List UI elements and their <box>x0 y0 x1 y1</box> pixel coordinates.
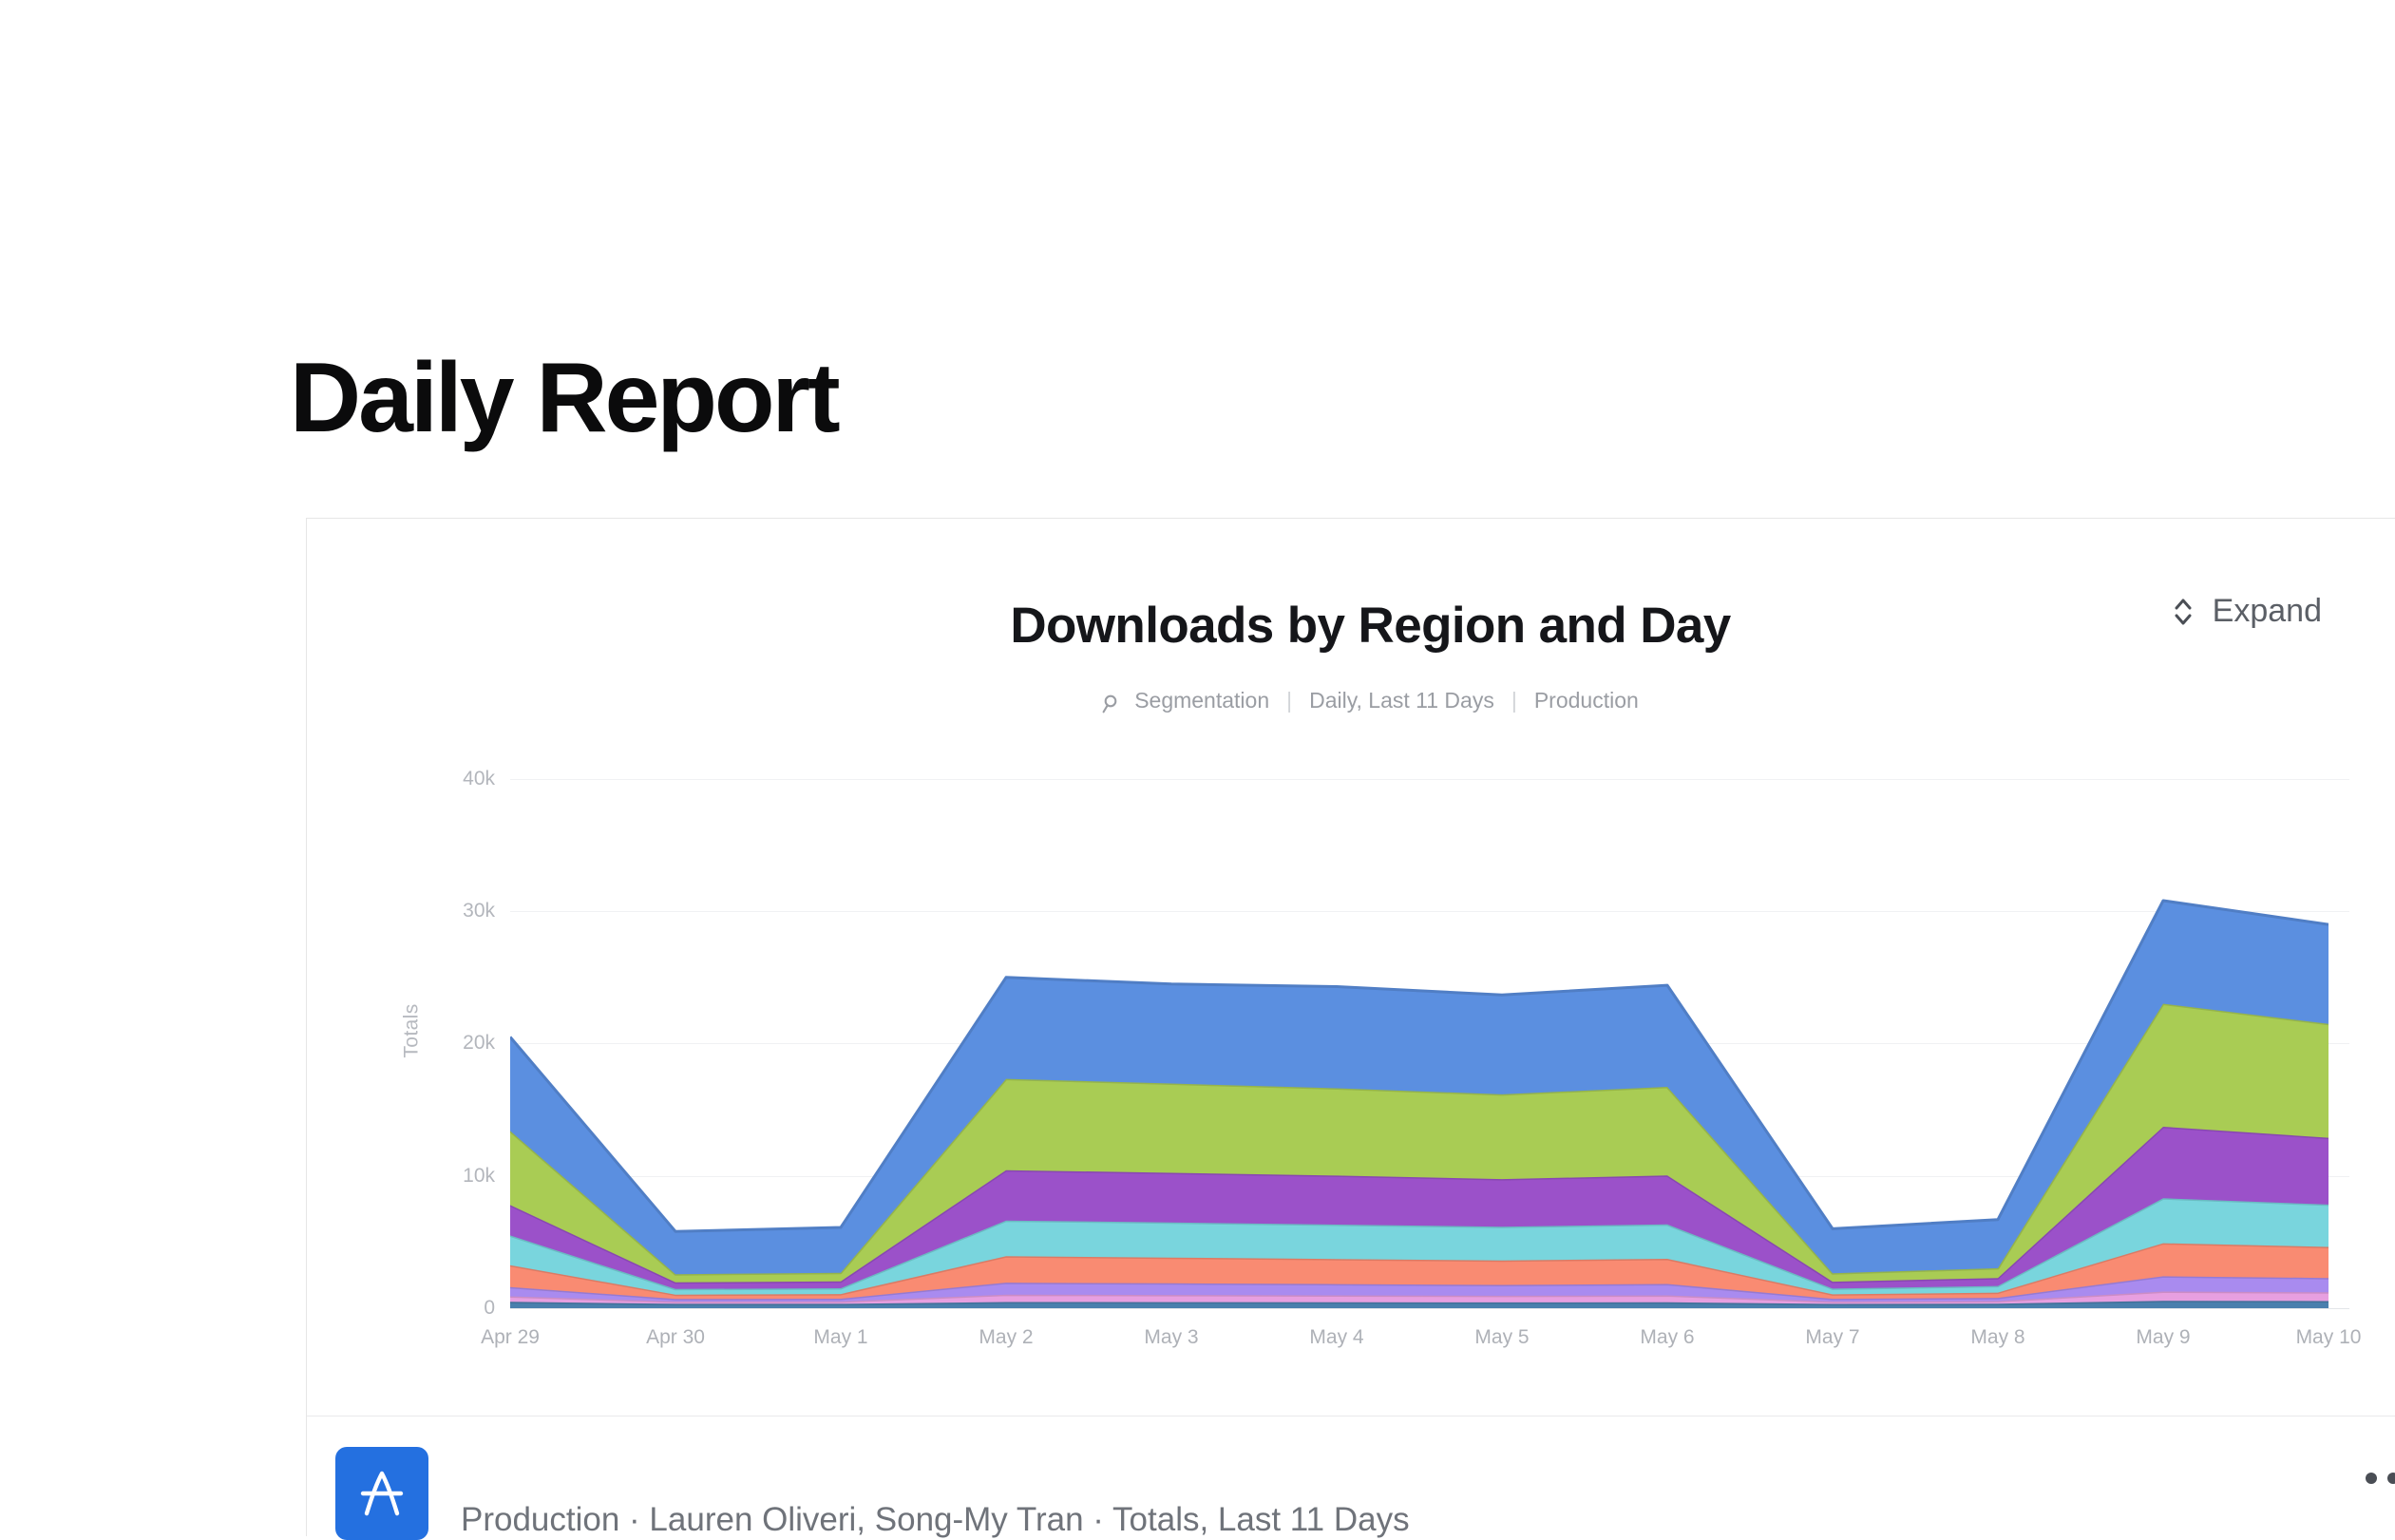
segmentation-icon <box>1102 693 1123 713</box>
expand-label: Expand <box>2213 593 2322 630</box>
chevron-up-down-icon <box>2169 595 2197 629</box>
card-divider <box>307 1416 2395 1416</box>
gridline-0 <box>510 1308 2349 1309</box>
x-tick-label: Apr 29 <box>481 1326 540 1349</box>
chart-interval-label: Daily, Last 11 Days <box>1309 688 1494 713</box>
chart-subtitle: Segmentation | Daily, Last 11 Days | Pro… <box>307 688 2395 713</box>
x-tick-label: May 1 <box>813 1326 867 1349</box>
x-tick-label: May 5 <box>1474 1326 1529 1349</box>
chart-card: Downloads by Region and Day Segmentation… <box>306 518 2395 1536</box>
y-tick-label: 10k <box>463 1165 495 1188</box>
x-tick-label: May 9 <box>2136 1326 2190 1349</box>
amplitude-logo-icon <box>335 1447 428 1540</box>
expand-button[interactable]: Expand <box>2169 593 2322 630</box>
y-tick-label: 40k <box>463 768 495 790</box>
y-tick-label: 0 <box>484 1297 495 1320</box>
kebab-dot-2 <box>2387 1473 2395 1484</box>
chart-card-footer: Production · Lauren Oliveri, Song-My Tra… <box>335 1450 2395 1537</box>
x-tick-label: May 2 <box>979 1326 1033 1349</box>
x-tick-label: May 7 <box>1805 1326 1859 1349</box>
x-tick-label: May 6 <box>1640 1326 1694 1349</box>
y-tick-label: 20k <box>463 1032 495 1055</box>
page-root: Daily Report Downloads by Region and Day… <box>0 0 2395 1536</box>
subtitle-separator-2: | <box>1506 688 1523 713</box>
x-tick-label: May 3 <box>1144 1326 1198 1349</box>
x-tick-label: May 4 <box>1309 1326 1363 1349</box>
chart-project-label: Production <box>1534 688 1639 713</box>
page-title: Daily Report <box>290 347 838 450</box>
kebab-dot-1 <box>2366 1473 2377 1484</box>
x-tick-label: Apr 30 <box>646 1326 705 1349</box>
footer-meta-text: Production · Lauren Oliveri, Song-My Tra… <box>461 1501 1410 1539</box>
y-axis-ticks: 010k20k30k40k <box>419 752 495 1308</box>
x-axis-ticks: Apr 29Apr 30May 1May 2May 3May 4May 5May… <box>510 1326 2328 1364</box>
stacked-area-chart[interactable] <box>510 752 2328 1308</box>
subtitle-separator-1: | <box>1281 688 1298 713</box>
chart-plot-area[interactable]: Totals 010k20k30k40k <box>510 752 2328 1308</box>
kebab-menu-icon[interactable] <box>2366 1473 2395 1484</box>
x-tick-label: May 10 <box>2296 1326 2362 1349</box>
x-tick-label: May 8 <box>1970 1326 2024 1349</box>
chart-title: Downloads by Region and Day <box>307 597 2395 655</box>
y-tick-label: 30k <box>463 900 495 922</box>
chart-type-label: Segmentation <box>1134 688 1269 713</box>
